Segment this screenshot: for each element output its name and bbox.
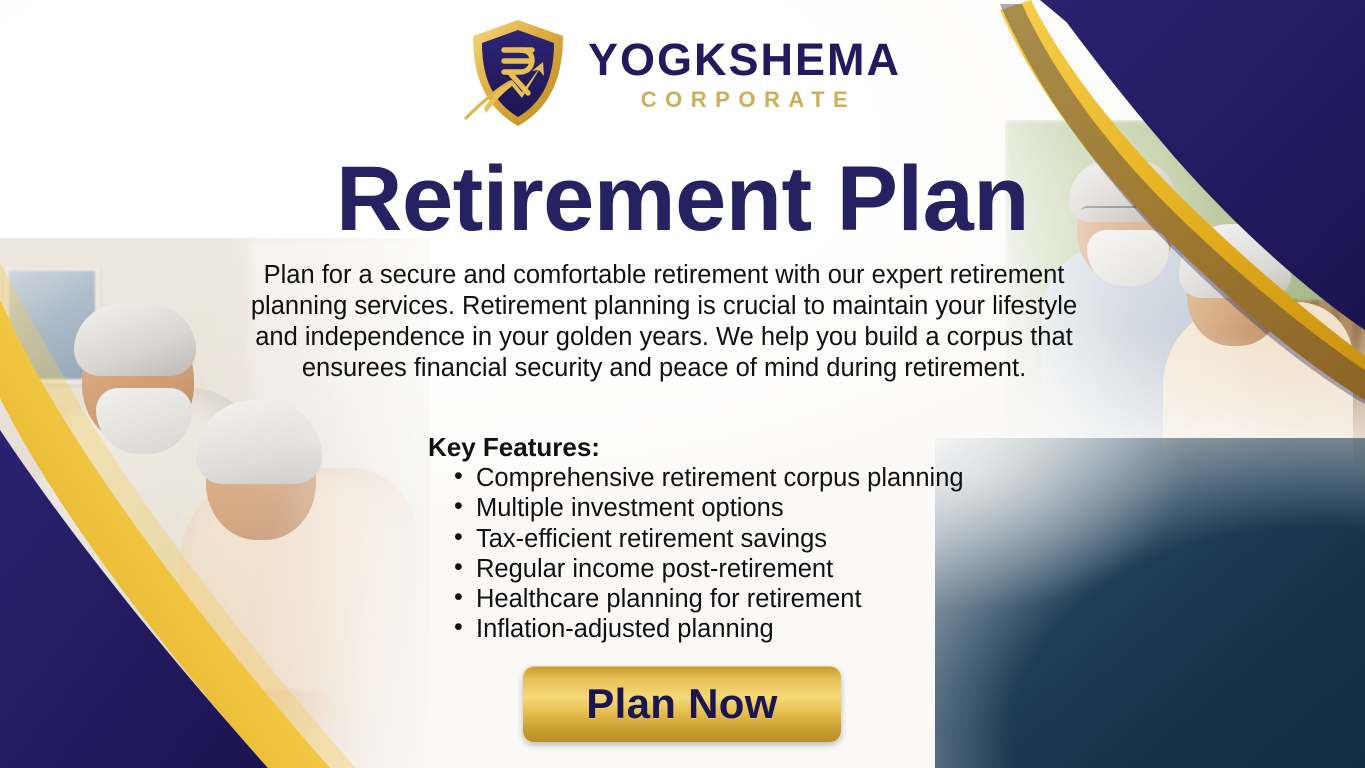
list-item: Inflation-adjusted planning (476, 614, 1028, 644)
key-features-block: Key Features: Comprehensive retirement c… (428, 432, 1028, 644)
list-item: Multiple investment options (476, 493, 1028, 523)
page-title: Retirement Plan (0, 152, 1365, 247)
retirement-plan-banner: YOGKSHEMA CORPORATE Retirement Plan Plan… (0, 0, 1365, 768)
list-item: Healthcare planning for retirement (476, 584, 1028, 614)
key-features-list: Comprehensive retirement corpus planning… (428, 463, 1028, 644)
brand-wordmark: YOGKSHEMA CORPORATE (588, 37, 901, 111)
key-features-title: Key Features: (428, 432, 1028, 462)
brand-tagline: CORPORATE (633, 89, 856, 111)
list-item: Regular income post-retirement (476, 554, 1028, 584)
list-item: Tax-efficient retirement savings (476, 524, 1028, 554)
plan-now-button[interactable]: Plan Now (523, 666, 841, 742)
brand-name: YOGKSHEMA (588, 37, 901, 82)
brand-logo-block[interactable]: YOGKSHEMA CORPORATE (0, 16, 1365, 132)
hero-paragraph: Plan for a secure and comfortable retire… (238, 260, 1090, 383)
list-item: Comprehensive retirement corpus planning (476, 463, 1028, 493)
shield-icon-svg (464, 16, 572, 132)
banner-content: YOGKSHEMA CORPORATE Retirement Plan Plan… (0, 0, 1365, 768)
shield-rupee-growth-icon (464, 16, 572, 132)
